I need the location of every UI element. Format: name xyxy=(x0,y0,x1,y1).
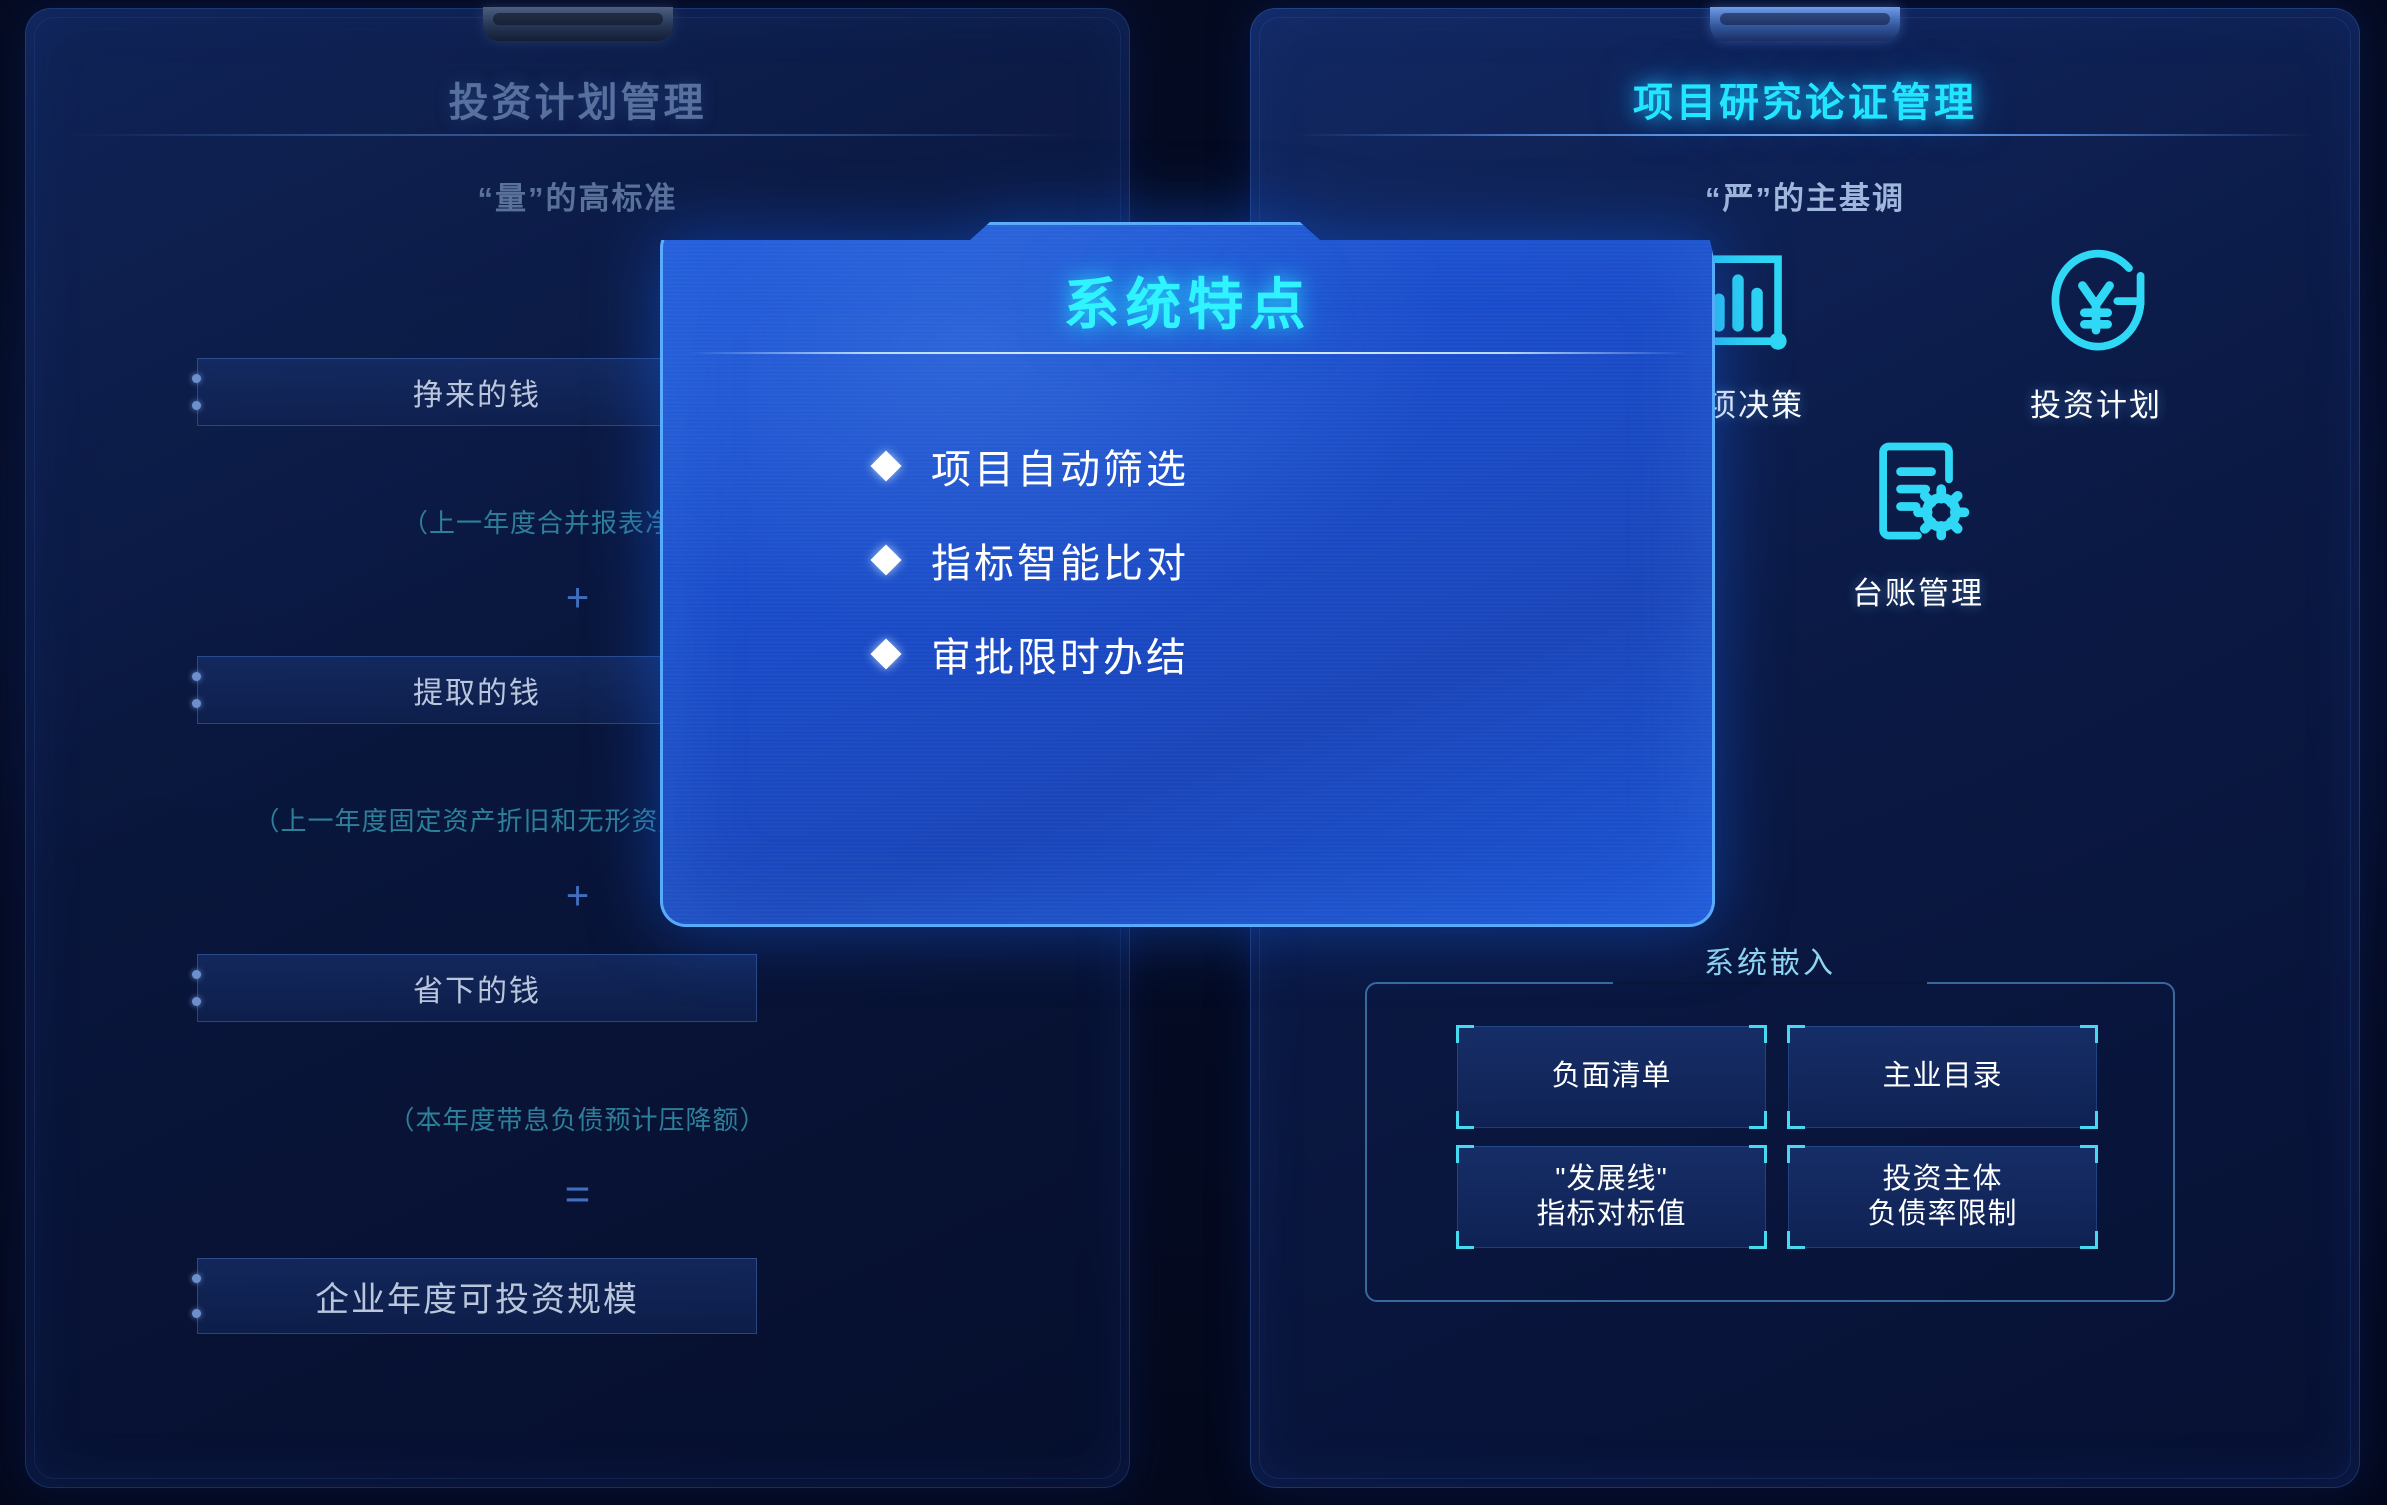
corner-bracket-icon xyxy=(1787,1231,1805,1249)
corner-bracket-icon xyxy=(1787,1025,1805,1043)
diamond-bullet-icon xyxy=(870,544,901,575)
corner-bracket-icon xyxy=(1456,1025,1474,1043)
panel-left-tab xyxy=(483,7,673,41)
flow-box-2-label: 提取的钱 xyxy=(413,668,541,712)
embed-cell-debt-limit[interactable]: 投资主体 负债率限制 xyxy=(1788,1146,2097,1248)
flow-box-3-label: 省下的钱 xyxy=(413,966,541,1010)
embed-cell-development-line[interactable]: "发展线" 指标对标值 xyxy=(1457,1146,1766,1248)
flow-box-3[interactable]: 省下的钱 xyxy=(197,954,757,1022)
corner-bracket-icon xyxy=(1456,1111,1474,1129)
panel-right-subhead: “严”的主基调 xyxy=(1250,173,2360,218)
system-feature-item-label: 审批限时办结 xyxy=(931,625,1189,683)
presentation-stage: 投资计划管理 “量”的高标准 挣来的钱 （上一年度合并报表净利润） + 提取的钱… xyxy=(0,0,2387,1505)
connector-dot xyxy=(192,699,201,708)
corner-bracket-icon xyxy=(1749,1025,1767,1043)
embed-cell-development-line-label: "发展线" 指标对标值 xyxy=(1536,1162,1686,1233)
system-feature-item[interactable]: 项目自动筛选 xyxy=(875,437,1189,495)
system-embed-legend: 系统嵌入 xyxy=(1704,938,1836,982)
corner-bracket-icon xyxy=(2080,1111,2098,1129)
corner-bracket-icon xyxy=(2080,1231,2098,1249)
embed-cell-negative-list[interactable]: 负面清单 xyxy=(1457,1026,1766,1128)
system-feature-item-label: 指标智能比对 xyxy=(931,531,1189,589)
embed-cell-negative-list-label: 负面清单 xyxy=(1551,1059,1671,1094)
feature-ledger[interactable]: 台账管理 xyxy=(1798,426,2038,613)
corner-bracket-icon xyxy=(1456,1231,1474,1249)
corner-bracket-icon xyxy=(1456,1145,1474,1163)
system-features-list: 项目自动筛选 指标智能比对 审批限时办结 xyxy=(875,437,1189,719)
yuan-refresh-icon xyxy=(1976,238,2216,368)
embed-cell-debt-limit-label: 投资主体 负债率限制 xyxy=(1867,1162,2017,1233)
connector-dot xyxy=(192,970,201,979)
panel-left-title: 投资计划管理 xyxy=(25,70,1130,128)
corner-bracket-icon xyxy=(1749,1145,1767,1163)
panel-right-tab xyxy=(1710,7,1900,41)
flow-box-1-label: 挣来的钱 xyxy=(413,370,541,414)
connector-dot xyxy=(192,401,201,410)
corner-bracket-icon xyxy=(1787,1145,1805,1163)
corner-bracket-icon xyxy=(1749,1111,1767,1129)
system-features-title: 系统特点 xyxy=(660,260,1715,341)
feature-ledger-label: 台账管理 xyxy=(1798,568,2038,613)
embed-cell-main-business[interactable]: 主业目录 xyxy=(1788,1026,2097,1128)
system-embed-group: 系统嵌入 负面清单 主业目录 "发 xyxy=(1365,982,2175,1302)
corner-bracket-icon xyxy=(2080,1145,2098,1163)
diamond-bullet-icon xyxy=(870,450,901,481)
diamond-bullet-icon xyxy=(870,638,901,669)
panel-right-divider xyxy=(1296,134,2314,136)
panel-left-divider xyxy=(71,134,1084,136)
system-features-card[interactable]: 系统特点 项目自动筛选 指标智能比对 审批限时办结 xyxy=(660,222,1715,927)
panel-left-subhead: “量”的高标准 xyxy=(25,173,1130,218)
flow-box-result-label: 企业年度可投资规模 xyxy=(315,1272,639,1321)
panel-right-title: 项目研究论证管理 xyxy=(1250,70,2360,128)
system-feature-item[interactable]: 指标智能比对 xyxy=(875,531,1189,589)
corner-bracket-icon xyxy=(1787,1111,1805,1129)
corner-bracket-icon xyxy=(1749,1231,1767,1249)
embed-cell-main-business-label: 主业目录 xyxy=(1882,1059,2002,1094)
system-feature-item-label: 项目自动筛选 xyxy=(931,437,1189,495)
feature-investment-plan[interactable]: 投资计划 xyxy=(1976,238,2216,425)
connector-dot xyxy=(192,374,201,383)
connector-dot xyxy=(192,997,201,1006)
connector-dot xyxy=(192,672,201,681)
corner-bracket-icon xyxy=(2080,1025,2098,1043)
feature-investment-plan-label: 投资计划 xyxy=(1976,380,2216,425)
flow-box-result[interactable]: 企业年度可投资规模 xyxy=(197,1258,757,1334)
connector-dot xyxy=(192,1309,201,1318)
system-embed-grid: 负面清单 主业目录 "发展线" 指标对标值 xyxy=(1457,1026,2097,1248)
flow-note-3: （本年度带息负债预计压降额） xyxy=(25,1100,1130,1137)
document-gear-icon xyxy=(1798,426,2038,556)
connector-dot xyxy=(192,1274,201,1283)
flow-operator-3: = xyxy=(25,1173,1130,1217)
system-features-divider xyxy=(688,352,1687,354)
system-feature-item[interactable]: 审批限时办结 xyxy=(875,625,1189,683)
